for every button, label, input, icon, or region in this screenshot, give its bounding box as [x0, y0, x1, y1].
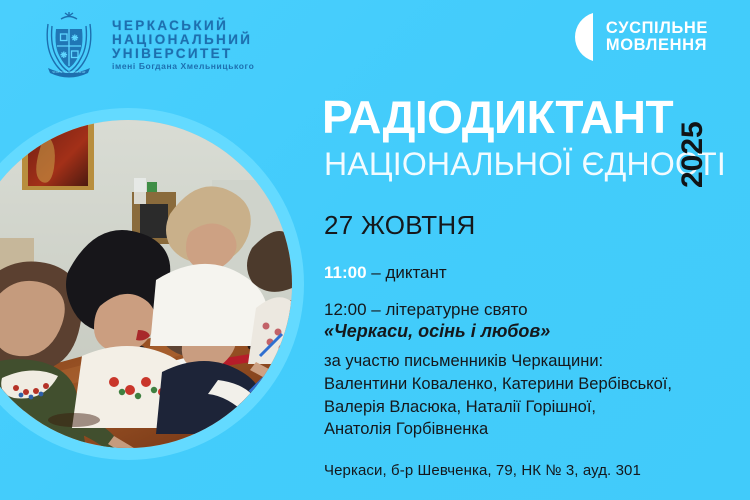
participants-list: за участю письменників Черкащини: Валент… — [324, 350, 672, 441]
participants-line-3: Анатолія Горбівненка — [324, 418, 672, 441]
year-text: 2025 — [676, 121, 710, 188]
participants-intro: за участю письменників Черкащини: — [324, 350, 672, 373]
page-subtitle: НАЦІОНАЛЬНОЇ ЄДНОСТІ — [324, 148, 726, 180]
schedule-text-1: – диктант — [367, 263, 447, 282]
event-quote-title: «Черкаси, осінь і любов» — [324, 321, 550, 342]
suspilne-half-disc-icon — [563, 12, 595, 62]
participants-line-1: Валентини Коваленко, Катерини Вербівсько… — [324, 373, 672, 396]
schedule-time-2: 12:00 — [324, 300, 367, 319]
university-name: ЧЕРКАСЬКИЙ НАЦІОНАЛЬНИЙ УНІВЕРСИТЕТ імен… — [112, 19, 254, 71]
venue-address: Черкаси, б-р Шевченка, 79, НК № 3, ауд. … — [324, 462, 641, 479]
schedule-item-2: 12:00 – літературне свято — [324, 300, 528, 320]
title-block: РАДІОДИКТАНТ НАЦІОНАЛЬНОЇ ЄДНОСТІ — [322, 96, 722, 196]
page-title: РАДІОДИКТАНТ — [322, 94, 673, 140]
year-label: 2025 — [676, 0, 706, 96]
university-line-3: УНІВЕРСИТЕТ — [112, 47, 254, 61]
participants-line-2: Валерія Власюка, Наталії Горішної, — [324, 396, 672, 419]
schedule-text-2: – літературне свято — [367, 300, 528, 319]
university-crest-icon: SCIENTIA NOBILITAT — [36, 10, 102, 80]
university-logo: SCIENTIA NOBILITAT ЧЕРКАСЬКИЙ НАЦІОНАЛЬН… — [36, 10, 254, 80]
university-subtitle: імені Богдана Хмельницького — [112, 62, 254, 71]
poster-root: SCIENTIA NOBILITAT ЧЕРКАСЬКИЙ НАЦІОНАЛЬН… — [0, 0, 750, 500]
university-line-1: ЧЕРКАСЬКИЙ — [112, 19, 254, 33]
svg-text:SCIENTIA NOBILITAT: SCIENTIA NOBILITAT — [52, 70, 86, 74]
schedule-time-1: 11:00 — [324, 263, 367, 282]
event-date: 27 ЖОВТНЯ — [324, 210, 476, 241]
schedule-item-1: 11:00 – диктант — [324, 263, 447, 283]
university-line-2: НАЦІОНАЛЬНИЙ — [112, 33, 254, 47]
